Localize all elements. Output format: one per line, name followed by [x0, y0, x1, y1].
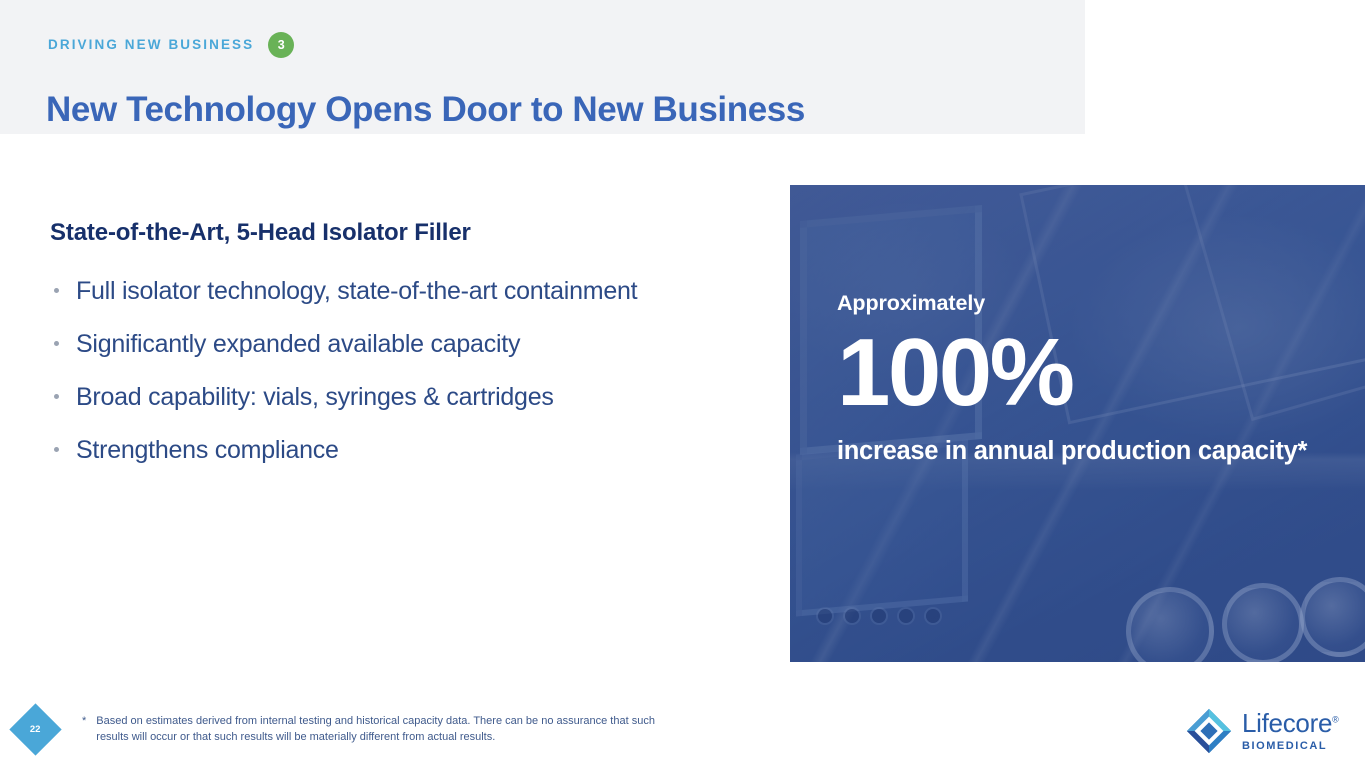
list-item-label: Full isolator technology, state-of-the-a…: [76, 277, 637, 305]
footnote-marker: *: [82, 713, 86, 746]
footnote-text: Based on estimates derived from internal…: [96, 713, 682, 746]
footnote: * Based on estimates derived from intern…: [82, 713, 682, 746]
logo-subtitle: BIOMEDICAL: [1242, 741, 1338, 752]
list-item-label: Broad capability: vials, syringes & cart…: [76, 383, 554, 411]
logo-name: Lifecore®: [1242, 710, 1338, 736]
logo-name-text: Lifecore: [1242, 708, 1332, 738]
left-content-column: State-of-the-Art, 5-Head Isolator Filler…: [50, 218, 740, 467]
list-item: Significantly expanded available capacit…: [50, 327, 740, 361]
list-item: Broad capability: vials, syringes & cart…: [50, 380, 740, 414]
statistic-caption: increase in annual production capacity*: [837, 435, 1307, 467]
page-title: New Technology Opens Door to New Busines…: [46, 89, 805, 130]
step-number-badge: 3: [268, 32, 294, 58]
bullet-dot-icon: [54, 288, 59, 293]
eyebrow-row: DRIVING NEW BUSINESS 3: [48, 32, 294, 58]
list-item: Strengthens compliance: [50, 433, 740, 467]
statistic-value: 100%: [837, 327, 1307, 419]
bullet-dot-icon: [54, 341, 59, 346]
list-item-label: Strengthens compliance: [76, 436, 339, 464]
eyebrow-label: DRIVING NEW BUSINESS: [48, 38, 254, 52]
registered-mark: ®: [1332, 714, 1338, 724]
page-number-badge: 22: [9, 703, 61, 755]
list-item-label: Significantly expanded available capacit…: [76, 330, 520, 358]
page-number-label: 22: [30, 725, 41, 735]
list-item: Full isolator technology, state-of-the-a…: [50, 274, 740, 308]
lifecore-diamond-icon: [1185, 707, 1233, 755]
statistic-qualifier: Approximately: [837, 293, 1307, 315]
feature-bullet-list: Full isolator technology, state-of-the-a…: [50, 274, 740, 467]
statistic-callout: Approximately 100% increase in annual pr…: [837, 293, 1307, 467]
isolator-photo-panel: Approximately 100% increase in annual pr…: [790, 185, 1365, 662]
bullet-dot-icon: [54, 394, 59, 399]
section-subhead: State-of-the-Art, 5-Head Isolator Filler: [50, 218, 740, 248]
bullet-dot-icon: [54, 447, 59, 452]
logo-wordmark: Lifecore® BIOMEDICAL: [1242, 710, 1338, 752]
lifecore-logo: Lifecore® BIOMEDICAL: [1185, 707, 1338, 755]
